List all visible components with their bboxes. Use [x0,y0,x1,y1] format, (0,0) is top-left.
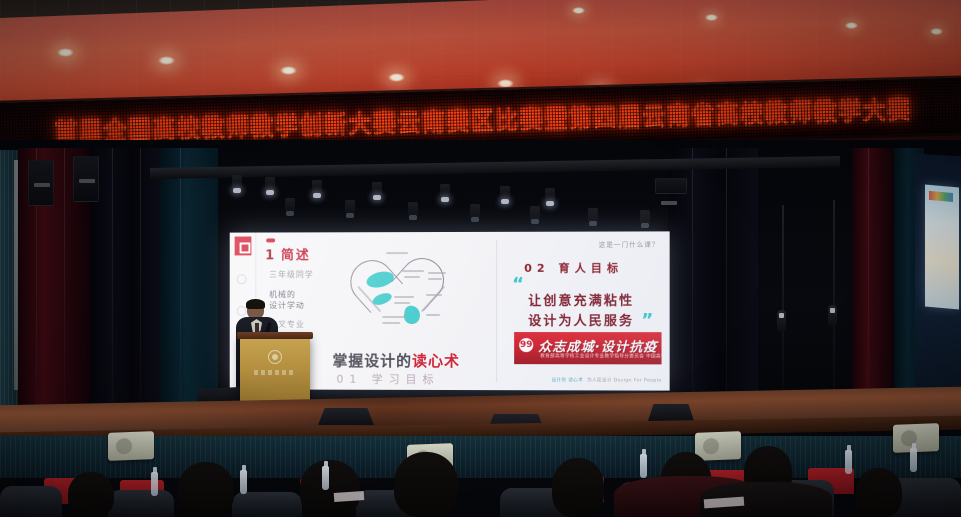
diagram-label [394,302,410,304]
slide-slogan-line-1: 让创意充满粘性 [528,290,634,309]
curtain-fold [180,148,181,410]
caption-highlight: 读心术 [412,352,460,370]
wall-speaker-icon [655,178,687,194]
diagram-blob [403,305,422,325]
lecture-hall-photo: 首届全国高校教师教学创新大赛云南赛区比赛暨第四届云南省高校教师教学大赛 [0,0,961,517]
audience-member [178,462,234,517]
presenter-hair [246,299,265,309]
stage-lamp-icon [500,186,510,200]
audience-member [856,468,902,517]
slide-caption: 掌握设计的读心术 [332,350,460,371]
slide-top-right-note: 这是一门什么课？ [599,238,660,248]
stage-lamp-icon [312,180,322,194]
water-bottle [910,448,917,472]
podium-emblem-icon [268,350,282,364]
stage-lamp-icon [530,206,540,220]
curtain-fold [64,148,65,410]
curtain-fold [140,148,141,410]
slide-heading-number: 1 [265,248,276,263]
slide-footer: 设计的 读心术 为人民设计 Design For People [552,378,662,385]
diagram-label [394,296,414,298]
downlight-icon [572,7,585,14]
water-bottle [240,470,247,494]
slide-heading-dot-icon [266,238,275,242]
curtain-teal-left [160,148,218,410]
curtain-fold [868,148,869,410]
list-item: 三年级同学 [269,270,313,281]
red-banner-subtitle: 教育部高等学校工业设计专业教学指导分委员会 中国高等教育学会设计教育专业委员会 … [540,353,661,359]
diagram-label [382,316,406,318]
stage-lamp-icon [640,210,650,224]
slide-sub-caption: 01 学习目标 [336,371,439,387]
downlight-icon [930,28,943,35]
audience-member [68,472,114,517]
curtain-fold [112,148,113,410]
slide-heading-2: 02 育人目标 [524,260,623,276]
downlight-icon [57,48,74,57]
auditorium-seat [108,490,174,517]
diagram-label [428,278,442,280]
audience-member [300,460,360,517]
quote-open-icon: “ [512,276,524,294]
stage-lamp-icon [265,177,275,191]
audience-member [394,452,458,517]
stage-lamp-icon [545,188,555,202]
stage-lamp-icon [470,204,480,218]
curtain-fold [692,148,693,410]
audience-member [552,458,604,517]
stage-lamp-icon [408,202,418,216]
diagram-label [382,322,400,324]
downlight-icon [705,14,718,21]
diagram-label [428,272,446,274]
rail-marker-icon [237,274,247,284]
curtain-maroon-right [852,148,894,410]
right-poster-display [925,185,959,310]
slide-logo-icon [235,237,252,256]
podium-top-surface [237,332,313,339]
mic-stand [833,200,835,392]
wall-speaker-icon [28,160,54,206]
microphone-icon [828,305,837,327]
caption-prefix: 掌握设计的 [332,352,412,370]
stage-lamp-icon [232,175,242,189]
stage-lamp-icon [588,208,598,222]
microphone-icon [777,310,786,332]
water-bottle [845,450,852,474]
podium [240,336,310,408]
downlight-icon [280,66,297,75]
stage-monitor-speaker [648,404,694,421]
curtain-fold [726,148,727,410]
diagram-label [426,314,440,316]
stage-monitor-speaker [318,408,374,425]
red-banner-mark: 99 [519,338,533,352]
footer-tag-right: 为人民设计 Design For People [587,379,661,386]
slide-slogan-line-2: 设计为人民服务 [528,310,634,329]
curtain-dark-left [90,148,160,410]
stage-lamp-icon [372,182,382,196]
downlight-icon [158,56,175,65]
diagram-label [404,276,420,278]
stage-lamp-icon [440,184,450,198]
footer-tag-left: 设计的 读心术 [552,378,583,385]
hall-speaker-icon [695,431,741,461]
slide-red-banner: 99 众志成城·设计抗疫 教育部高等学校工业设计专业教学指导分委员会 中国高等教… [514,332,661,364]
slide-vertical-rule [496,240,497,382]
downlight-icon [388,73,405,82]
diagram-label [386,252,408,254]
podium-nameplate [254,370,296,375]
diagram-label [402,270,424,272]
water-bottle [640,454,647,478]
slide-heading-1: 1简述 [265,244,311,263]
auditorium-seat [232,492,302,517]
slide-heading-text: 简述 [281,248,311,263]
auditorium-seat [0,486,62,517]
mic-stand [782,205,784,393]
water-bottle [322,466,329,490]
banner-text: 首届全国高校教师教学创新大赛云南赛区比赛暨第四届云南省高校教师教学大赛 [54,88,912,147]
water-bottle [151,472,158,496]
stage-lamp-icon [285,198,295,212]
downlight-icon [845,22,858,29]
heart-outline [342,250,466,344]
diagram-label [426,294,442,296]
wall-speaker-icon [73,156,99,202]
stage-lamp-icon [345,200,355,214]
heart-mind-map-diagram [334,246,474,352]
quote-close-icon: ” [641,312,653,330]
hall-speaker-icon [108,431,154,461]
